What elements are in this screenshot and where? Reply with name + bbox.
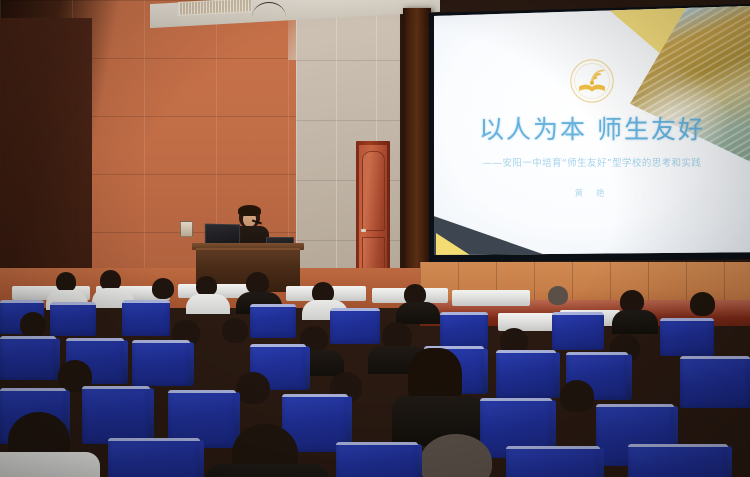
audience-head	[56, 272, 76, 292]
auditorium-seat[interactable]	[628, 444, 728, 477]
auditorium-seat[interactable]	[552, 312, 604, 350]
audience-shoulders	[0, 452, 100, 477]
auditorium-seat[interactable]	[132, 340, 190, 386]
audience-head	[222, 318, 248, 343]
front-table	[452, 290, 530, 306]
speaker-hair	[238, 205, 261, 216]
audience-shoulders	[186, 294, 230, 314]
light-switch[interactable]	[180, 221, 193, 237]
slide-title: 以人为本 师生友好	[444, 110, 740, 146]
audience-head	[560, 380, 594, 412]
audience-shoulders	[396, 302, 440, 324]
audience-head	[152, 278, 174, 299]
school-emblem-book-icon	[569, 58, 615, 104]
auditorium-seat[interactable]	[496, 350, 556, 398]
side-door[interactable]	[359, 145, 387, 284]
auditorium-seat[interactable]	[680, 356, 750, 408]
slide-presenter-name: 黄 艳	[444, 187, 740, 199]
auditorium-seat[interactable]	[506, 446, 600, 477]
slide-text-block: 以人为本 师生友好 ——安阳一中培育“师生友好”型学校的思考和实践 黄 艳	[434, 110, 750, 199]
shadowed-wall-left	[0, 18, 92, 300]
audience-head	[236, 372, 270, 404]
auditorium-seat[interactable]	[330, 308, 380, 344]
auditorium-seat[interactable]	[250, 304, 296, 338]
auditorium-seat[interactable]	[440, 312, 488, 348]
slide-subtitle: ——安阳一中培育“师生友好”型学校的思考和实践	[444, 155, 740, 169]
door-panel-upper	[362, 151, 385, 231]
auditorium-seat[interactable]	[108, 438, 200, 477]
audience-head	[20, 312, 46, 337]
door-handle[interactable]	[361, 229, 366, 232]
audience-shoulders	[206, 464, 328, 477]
wooden-pillar	[403, 8, 431, 290]
audience-head	[246, 272, 269, 294]
auditorium-seat[interactable]	[82, 386, 150, 444]
audience-head	[690, 292, 715, 316]
audience-head	[196, 276, 217, 296]
auditorium-seat[interactable]	[660, 318, 714, 356]
auditorium-seat[interactable]	[122, 300, 170, 336]
audience-head	[548, 286, 568, 305]
projection-screen[interactable]: 以人为本 师生友好 ——安阳一中培育“师生友好”型学校的思考和实践 黄 艳	[434, 6, 750, 256]
auditorium-seat[interactable]	[50, 302, 96, 336]
auditorium-photo: 以人为本 师生友好 ——安阳一中培育“师生友好”型学校的思考和实践 黄 艳	[0, 0, 750, 477]
auditorium-seat[interactable]	[336, 442, 418, 477]
audience-shoulders	[612, 310, 658, 334]
auditorium-seat[interactable]	[0, 336, 56, 380]
